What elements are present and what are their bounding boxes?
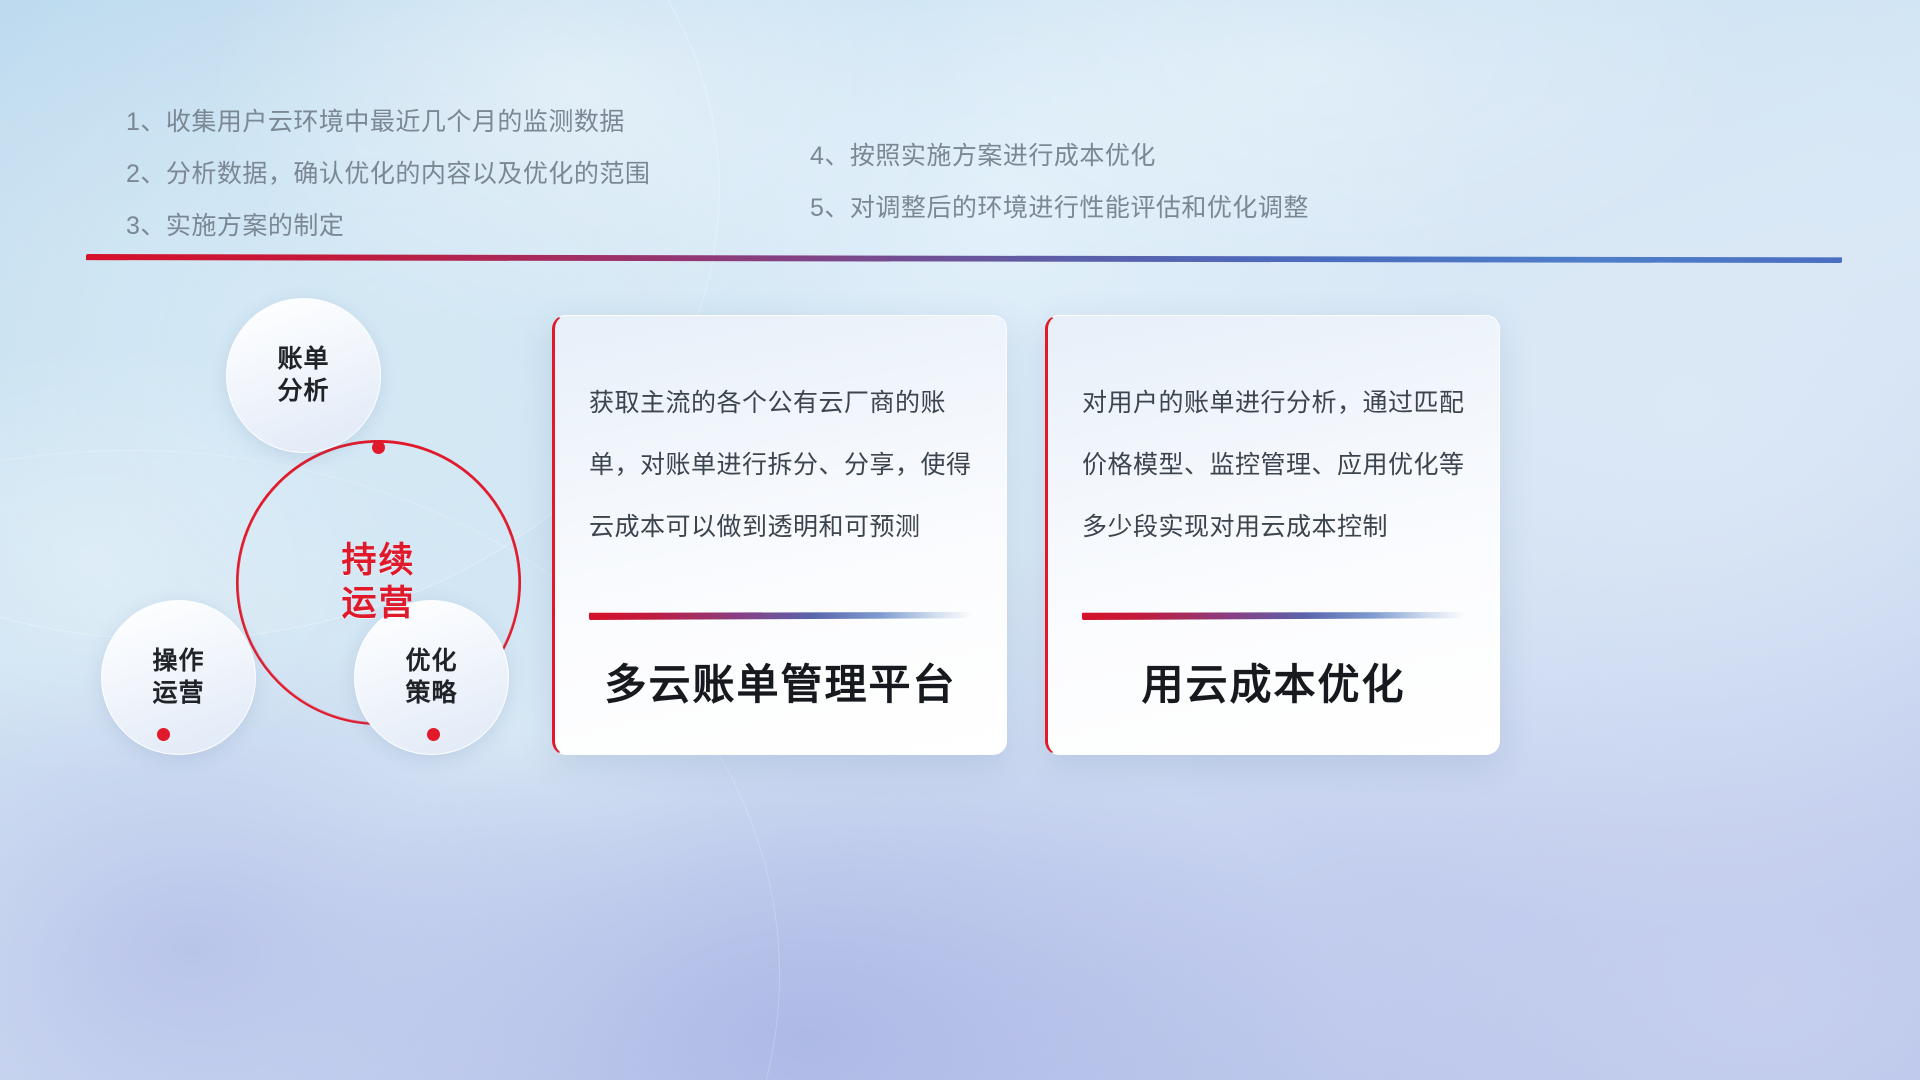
venn-node-dot-bottom-right: [427, 728, 440, 741]
venn-node-dot-bottom-left: [157, 728, 170, 741]
venn-center-label-line2: 运营: [341, 583, 415, 626]
venn-lobe-billing-analysis[interactable]: 账单 分析: [226, 298, 381, 453]
card-title: 用云成本优化: [1048, 651, 1499, 712]
venn-diagram: 账单 分析 操作 运营 优化 策略 持续 运营: [84, 285, 544, 785]
card-divider-rule: [1082, 612, 1465, 620]
venn-lobe-label-line2: 运营: [152, 678, 204, 710]
venn-lobe-label: 操作 运营: [152, 646, 204, 709]
venn-center-label: 持续 运营: [236, 440, 521, 725]
bullet-item-5: 5、对调整后的环境进行性能评估和优化调整: [810, 182, 1309, 234]
card-title: 多云账单管理平台: [555, 651, 1006, 712]
card-body-text: 对用户的账单进行分析，通过匹配价格模型、监控管理、应用优化等多少段实现对用云成本…: [1048, 316, 1499, 558]
card-divider-rule: [589, 612, 972, 620]
bullet-item-1: 1、收集用户云环境中最近几个月的监测数据: [126, 96, 650, 148]
venn-lobe-label-line2: 分析: [277, 376, 329, 408]
bullet-column-left: 1、收集用户云环境中最近几个月的监测数据 2、分析数据，确认优化的内容以及优化的…: [126, 96, 650, 252]
bullet-item-4: 4、按照实施方案进行成本优化: [810, 130, 1309, 182]
venn-lobe-label: 账单 分析: [277, 344, 329, 407]
bullet-item-3: 3、实施方案的制定: [126, 200, 650, 252]
card-multi-cloud-billing-platform[interactable]: 获取主流的各个公有云厂商的账单，对账单进行拆分、分享，使得云成本可以做到透明和可…: [552, 315, 1007, 755]
card-body-text: 获取主流的各个公有云厂商的账单，对账单进行拆分、分享，使得云成本可以做到透明和可…: [555, 316, 1006, 558]
bullet-item-2: 2、分析数据，确认优化的内容以及优化的范围: [126, 148, 650, 200]
venn-lobe-label-line1: 账单: [277, 344, 329, 376]
card-cloud-cost-optimization[interactable]: 对用户的账单进行分析，通过匹配价格模型、监控管理、应用优化等多少段实现对用云成本…: [1045, 315, 1500, 755]
venn-center-label-line1: 持续: [341, 540, 415, 583]
bullet-lists: 1、收集用户云环境中最近几个月的监测数据 2、分析数据，确认优化的内容以及优化的…: [0, 96, 1920, 256]
bullet-column-right: 4、按照实施方案进行成本优化 5、对调整后的环境进行性能评估和优化调整: [810, 130, 1309, 234]
venn-lobe-operations[interactable]: 操作 运营: [101, 600, 256, 755]
venn-lobe-label-line1: 操作: [152, 646, 204, 678]
